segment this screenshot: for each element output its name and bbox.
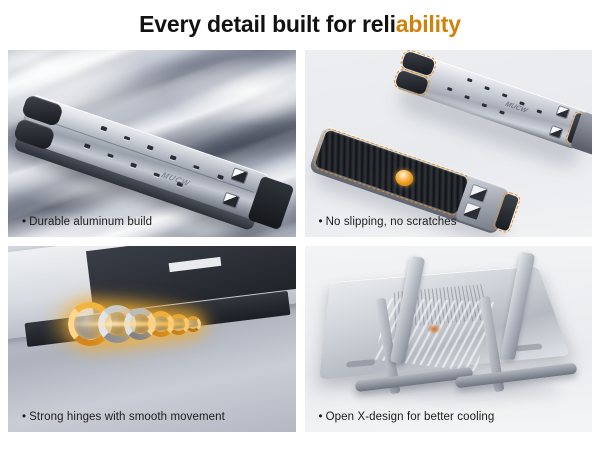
caption-no-slipping: •No slipping, no scratches xyxy=(319,216,457,228)
page-header: Every detail built for reliability xyxy=(0,0,600,48)
vent-slot xyxy=(466,78,472,82)
caption-durable-aluminum: •Durable aluminum build xyxy=(22,216,152,228)
page-title: Every detail built for reliability xyxy=(139,11,461,38)
vent-slot xyxy=(100,126,107,131)
vent-slot xyxy=(147,145,154,150)
brand-logo: MUCW xyxy=(503,101,528,114)
vent-slot xyxy=(447,87,453,91)
vent-slot xyxy=(83,143,90,148)
page-title-accent: ability xyxy=(396,11,461,37)
caption-text: No slipping, no scratches xyxy=(326,216,457,228)
vent-slot xyxy=(536,109,542,113)
brand-logo: MUCW xyxy=(160,171,192,188)
panel-open-x-design: •Open X-design for better cooling xyxy=(305,246,593,433)
vent-slot xyxy=(107,153,114,158)
bullet-icon: • xyxy=(22,411,26,423)
vent-slot xyxy=(153,172,160,177)
bullet-icon: • xyxy=(22,216,26,228)
laptop-foot xyxy=(514,343,543,351)
hinge-notch xyxy=(230,167,248,184)
hinge-notch xyxy=(548,125,563,139)
caption-text: Durable aluminum build xyxy=(29,216,152,228)
panel-strong-hinges: •Strong hinges with smooth movement xyxy=(8,246,296,433)
feature-grid: MUCW •Durable aluminum build xyxy=(8,50,592,432)
vent-slot xyxy=(464,95,470,99)
hinge-ring-stack xyxy=(8,246,296,433)
laptop-foot xyxy=(345,359,374,368)
hinge-light-streak xyxy=(62,322,212,326)
hinge-notch xyxy=(222,192,240,209)
page-title-main: Every detail built for reli xyxy=(139,11,396,37)
caption-strong-hinges: •Strong hinges with smooth movement xyxy=(22,411,225,423)
hinge-notch xyxy=(555,105,570,119)
heat-indicator xyxy=(427,324,441,334)
bullet-icon: • xyxy=(319,216,323,228)
caption-text: Open X-design for better cooling xyxy=(326,411,495,423)
product-feature-page: Every detail built for reliability xyxy=(0,0,600,450)
panel-no-slipping: MUCW •No slipping, no scratches xyxy=(305,50,593,237)
vent-slot xyxy=(482,103,488,107)
vent-slot xyxy=(501,93,507,97)
vent-slot xyxy=(170,155,177,160)
product-closed-stand: MUCW xyxy=(395,50,588,150)
caption-text: Strong hinges with smooth movement xyxy=(29,411,225,423)
vent-slot xyxy=(130,163,137,168)
panel-durable-aluminum: MUCW •Durable aluminum build xyxy=(8,50,296,237)
caption-open-x-design: •Open X-design for better cooling xyxy=(319,411,495,423)
vent-slot xyxy=(123,136,130,141)
vent-slot xyxy=(483,86,489,90)
bullet-icon: • xyxy=(319,411,323,423)
vent-slot xyxy=(193,165,200,170)
vent-slot xyxy=(499,111,505,115)
